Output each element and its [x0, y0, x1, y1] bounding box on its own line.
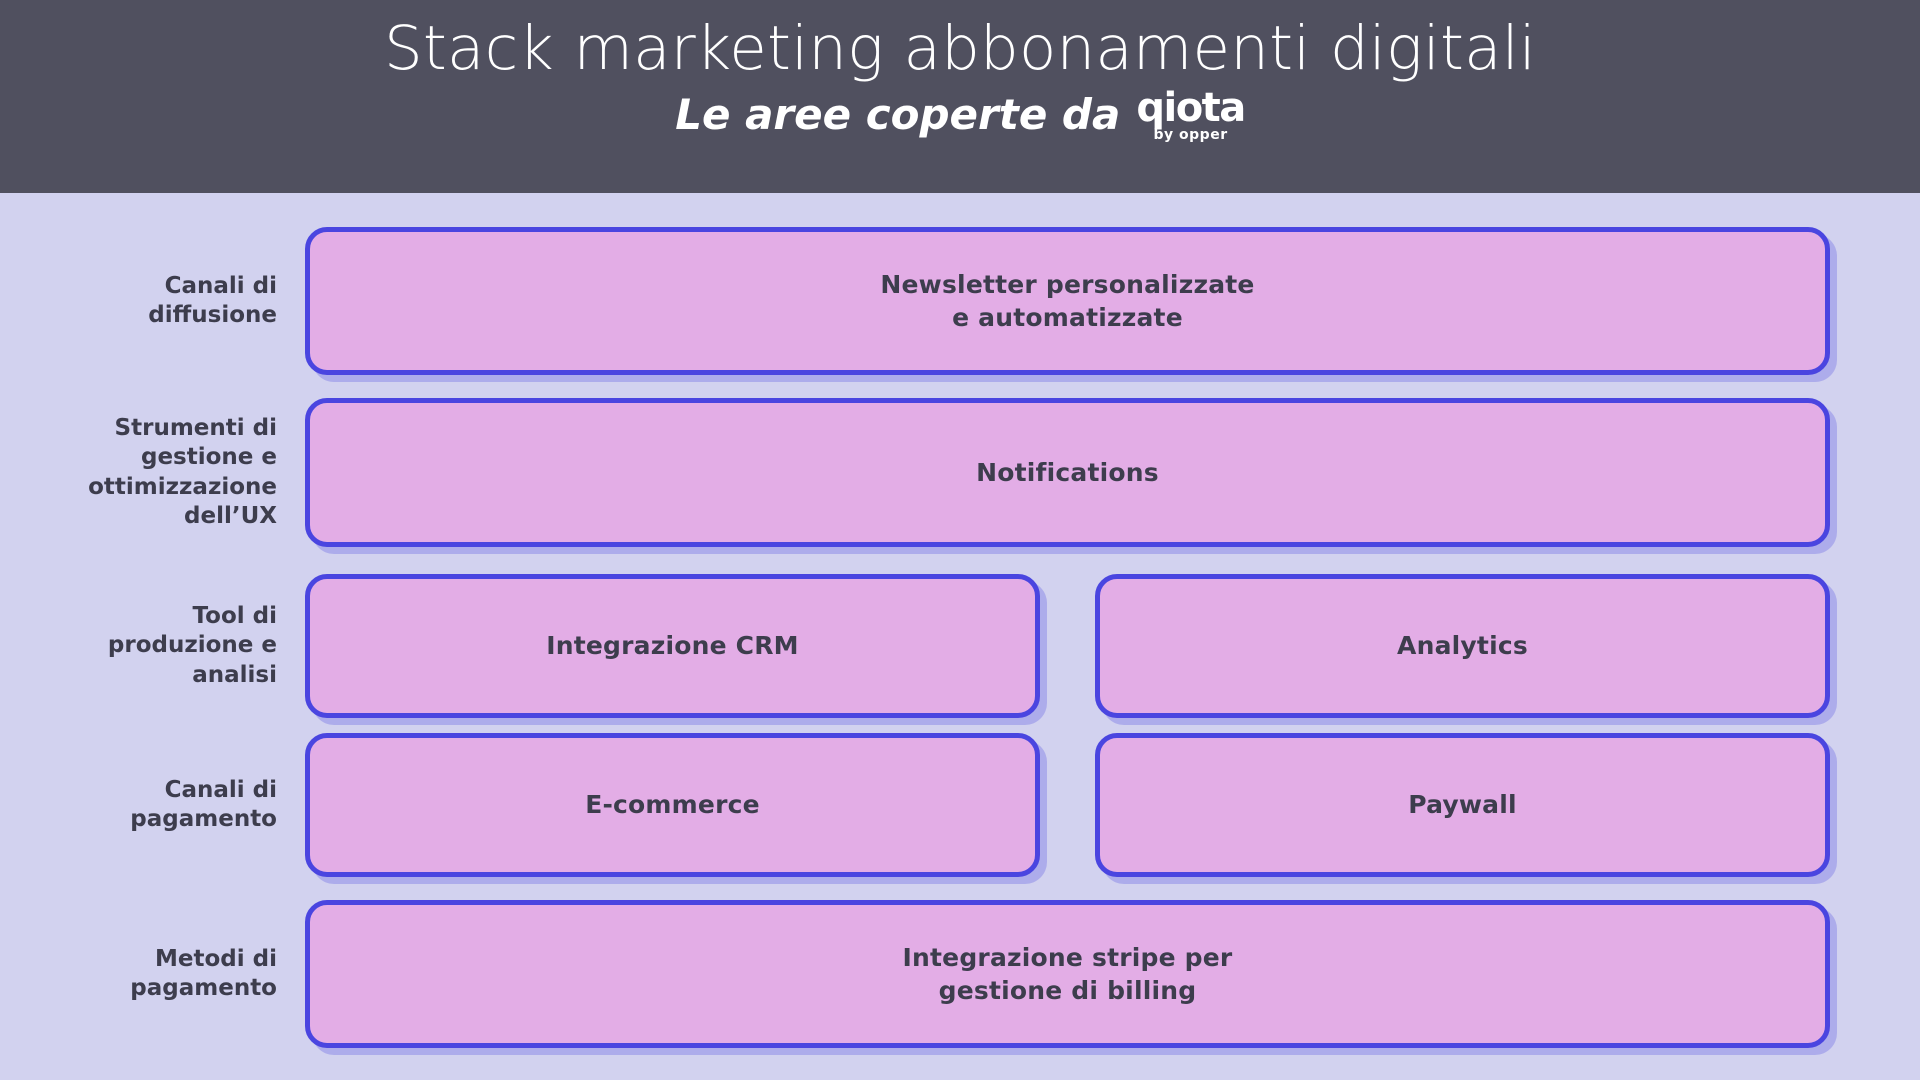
card-label: Notifications: [958, 456, 1177, 489]
card-label: Newsletter personalizzate e automatizzat…: [862, 268, 1272, 335]
card-integrazione-crm[interactable]: Integrazione CRM: [305, 574, 1040, 718]
card-newsletter[interactable]: Newsletter personalizzate e automatizzat…: [305, 227, 1830, 375]
row-label-metodi-di-pagamento: Metodi di pagamento: [0, 945, 305, 1004]
row-cards: Newsletter personalizzate e automatizzat…: [305, 227, 1920, 375]
stack-row-canali-di-diffusione: Canali di diffusione Newsletter personal…: [0, 227, 1920, 375]
card-paywall[interactable]: Paywall: [1095, 733, 1830, 877]
card-label: Integrazione stripe per gestione di bill…: [885, 941, 1251, 1008]
page-subtitle: Le aree coperte da: [675, 92, 1120, 138]
stack-rows: Canali di diffusione Newsletter personal…: [0, 193, 1920, 1080]
row-cards: Integrazione CRM Analytics: [305, 574, 1920, 718]
row-label-tool-produzione-analisi: Tool di produzione e analisi: [0, 602, 305, 690]
row-label-canali-di-pagamento: Canali di pagamento: [0, 776, 305, 835]
card-label: Paywall: [1390, 788, 1535, 821]
stack-marketing-infographic: Stack marketing abbonamenti digitali Le …: [0, 0, 1920, 1080]
qiota-logo: qiota by opper: [1136, 90, 1244, 142]
subtitle-row: Le aree coperte da qiota by opper: [675, 88, 1245, 142]
header-banner: Stack marketing abbonamenti digitali Le …: [0, 0, 1920, 193]
stack-row-metodi-di-pagamento: Metodi di pagamento Integrazione stripe …: [0, 900, 1920, 1048]
row-label-strumenti-gestione-ux: Strumenti di gestione e ottimizzazione d…: [0, 414, 305, 532]
card-label: Analytics: [1379, 629, 1546, 662]
row-cards: Notifications: [305, 398, 1920, 547]
card-e-commerce[interactable]: E-commerce: [305, 733, 1040, 877]
row-label-canali-di-diffusione: Canali di diffusione: [0, 272, 305, 331]
card-analytics[interactable]: Analytics: [1095, 574, 1830, 718]
row-cards: Integrazione stripe per gestione di bill…: [305, 900, 1920, 1048]
logo-wordmark: qiota: [1136, 90, 1244, 127]
card-notifications[interactable]: Notifications: [305, 398, 1830, 547]
stack-row-canali-di-pagamento: Canali di pagamento E-commerce Paywall: [0, 733, 1920, 877]
card-label: Integrazione CRM: [528, 629, 817, 662]
page-title: Stack marketing abbonamenti digitali: [384, 14, 1536, 84]
card-label: E-commerce: [567, 788, 778, 821]
stack-row-tool-produzione-analisi: Tool di produzione e analisi Integrazion…: [0, 574, 1920, 718]
row-cards: E-commerce Paywall: [305, 733, 1920, 877]
stack-row-strumenti-gestione-ux: Strumenti di gestione e ottimizzazione d…: [0, 398, 1920, 547]
logo-byline: by opper: [1154, 128, 1228, 142]
card-integrazione-stripe[interactable]: Integrazione stripe per gestione di bill…: [305, 900, 1830, 1048]
